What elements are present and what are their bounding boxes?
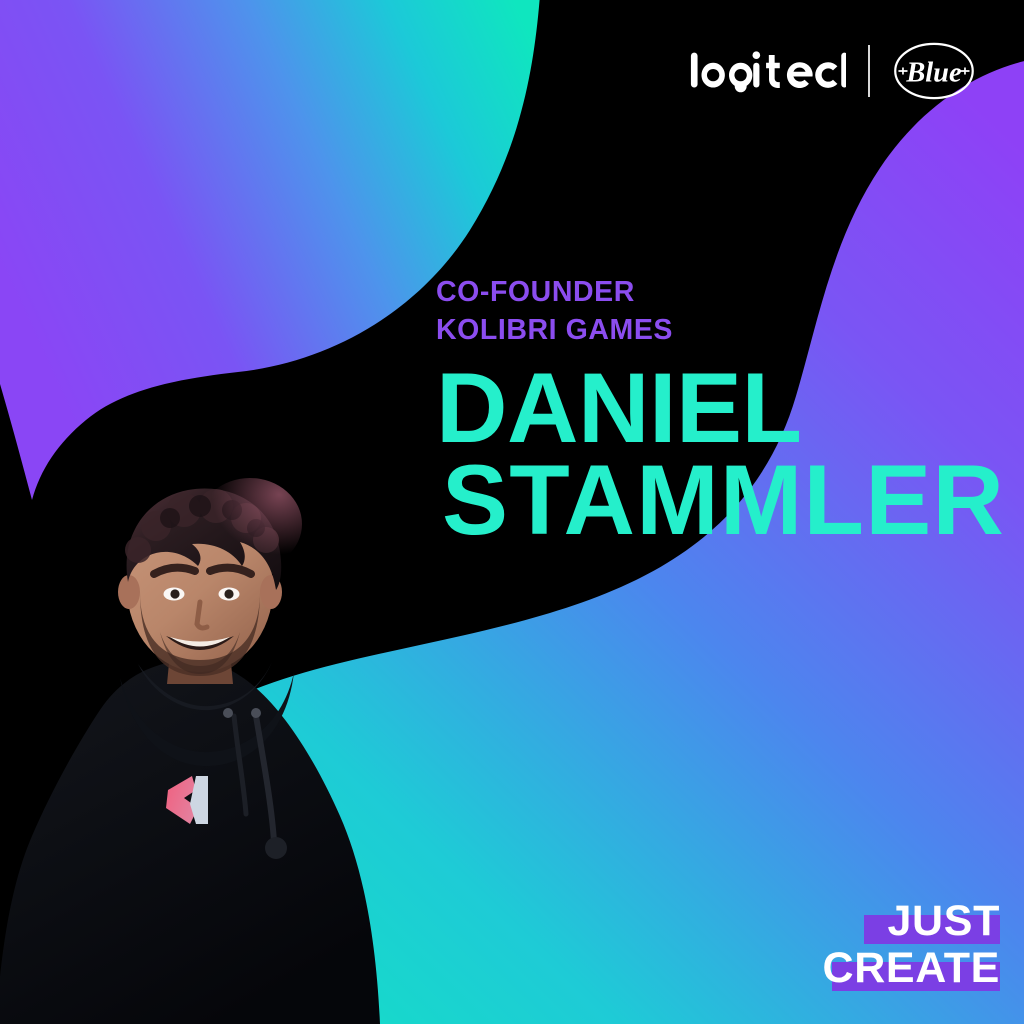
logitech-wordmark-icon xyxy=(690,49,846,93)
social-speaker-card: Blue CO-FOUNDER KOLIBRI GAMES DANIEL STA… xyxy=(0,0,1024,1024)
speaker-role-line-2: KOLIBRI GAMES xyxy=(436,312,1024,350)
speaker-portrait xyxy=(0,464,398,1024)
badge-line-create: CREATE xyxy=(823,945,1000,992)
badge-text-create: CREATE xyxy=(823,945,1000,992)
speaker-role-line-1: CO-FOUNDER xyxy=(436,274,1024,312)
speaker-name: DANIEL STAMMLER xyxy=(436,362,1024,546)
just-create-badge: JUST CREATE xyxy=(823,898,1000,992)
brand-lockup: Blue xyxy=(690,36,976,106)
brand-divider xyxy=(868,45,870,97)
badge-text-just: JUST xyxy=(888,898,1001,945)
speaker-first-name: DANIEL xyxy=(436,362,1024,454)
speaker-text-block: CO-FOUNDER KOLIBRI GAMES DANIEL STAMMLER xyxy=(436,274,1024,546)
svg-text:Blue: Blue xyxy=(905,57,961,88)
blue-oval-logo-icon: Blue xyxy=(892,40,976,102)
speaker-last-name: STAMMLER xyxy=(442,454,1024,546)
badge-line-just: JUST xyxy=(823,898,1000,945)
